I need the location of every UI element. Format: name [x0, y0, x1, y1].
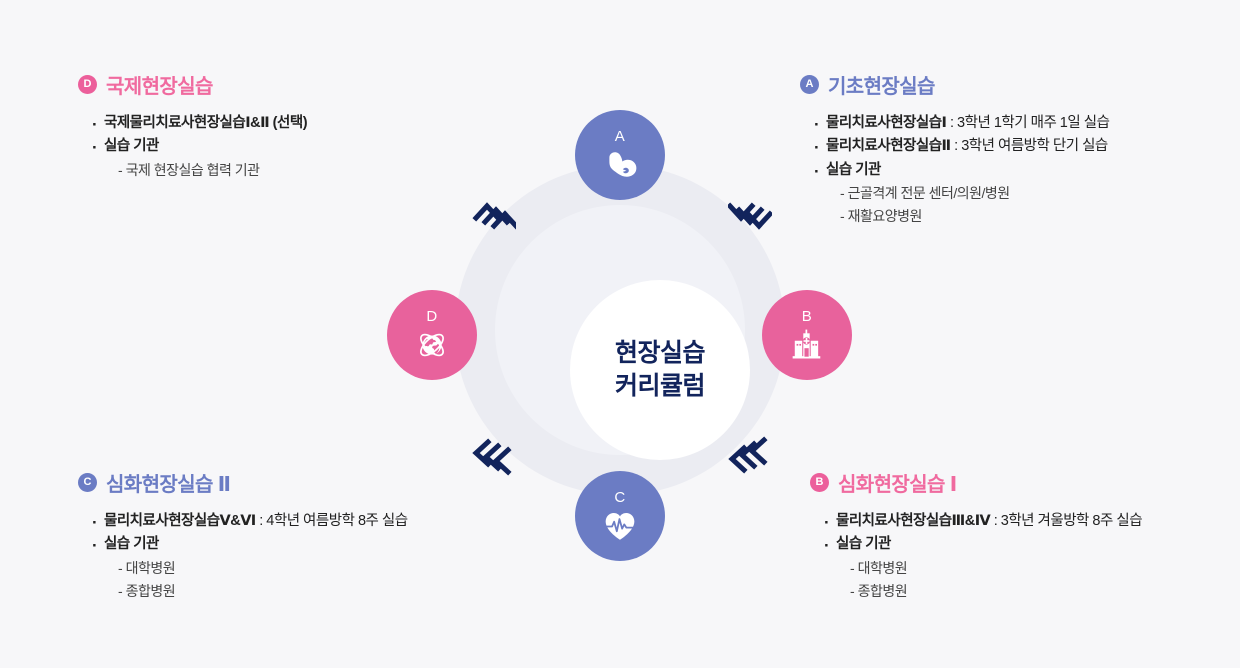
block-d-badge: D [78, 75, 97, 94]
list-item: 물리치료사현장실습Ⅰ : 3학년 1학기 매주 1일 실습 [826, 112, 1220, 135]
node-b[interactable]: B [762, 290, 852, 380]
item-detail: : 3학년 1학기 매주 1일 실습 [946, 115, 1109, 131]
center-title: 현장실습 커리큘럼 [615, 337, 705, 403]
block-d-title: 국제현장실습 [106, 70, 213, 99]
node-d-letter: D [426, 309, 437, 324]
block-a-sublist: 근골격계 전문 센터/의원/병원 재활요양병원 [826, 182, 1220, 227]
item-detail: : 4학년 여름방학 8주 실습 [256, 513, 408, 529]
sub-list-item: 종합병원 [850, 580, 1230, 603]
block-b-header: B 심화현장실습 Ⅰ [810, 468, 1230, 497]
sub-list-item: 종합병원 [118, 580, 518, 603]
block-c-list: 물리치료사현장실습Ⅴ&Ⅵ : 4학년 여름방학 8주 실습 실습 기관 대학병원… [78, 510, 518, 602]
item-label: 국제물리치료사현장실습Ⅰ&Ⅱ (선택) [104, 115, 307, 131]
block-c-badge: C [78, 473, 97, 492]
block-d: D 국제현장실습 국제물리치료사현장실습Ⅰ&Ⅱ (선택) 실습 기관 국제 현장… [78, 70, 498, 182]
block-c-header: C 심화현장실습 Ⅱ [78, 468, 518, 497]
block-a-list: 물리치료사현장실습Ⅰ : 3학년 1학기 매주 1일 실습 물리치료사현장실습Ⅱ… [800, 112, 1220, 228]
block-b-title: 심화현장실습 Ⅰ [838, 468, 957, 497]
item-label: 실습 기관 [104, 138, 159, 154]
item-label: 물리치료사현장실습Ⅲ&Ⅳ [836, 513, 990, 529]
node-c-letter: C [614, 490, 625, 505]
block-d-list: 국제물리치료사현장실습Ⅰ&Ⅱ (선택) 실습 기관 국제 현장실습 협력 기관 [78, 112, 498, 182]
block-b: B 심화현장실습 Ⅰ 물리치료사현장실습Ⅲ&Ⅳ : 3학년 겨울방학 8주 실습… [810, 468, 1230, 602]
list-item: 실습 기관 국제 현장실습 협력 기관 [104, 135, 498, 181]
chevron-upper-left-icon [472, 192, 516, 232]
block-b-list: 물리치료사현장실습Ⅲ&Ⅳ : 3학년 겨울방학 8주 실습 실습 기관 대학병원… [810, 510, 1230, 602]
block-a-header: A 기초현장실습 [800, 70, 1220, 99]
hospital-icon [790, 328, 824, 362]
item-label: 물리치료사현장실습Ⅰ [826, 115, 946, 131]
list-item: 물리치료사현장실습Ⅴ&Ⅵ : 4학년 여름방학 8주 실습 [104, 510, 518, 533]
item-detail: : 3학년 여름방학 단기 실습 [951, 138, 1108, 154]
block-b-badge: B [810, 473, 829, 492]
item-label: 실습 기관 [836, 536, 891, 552]
block-d-header: D 국제현장실습 [78, 70, 498, 99]
infographic-canvas: 현장실습 커리큘럼 A [0, 0, 1240, 668]
list-item: 실습 기관 대학병원 종합병원 [104, 533, 518, 602]
node-d[interactable]: D [387, 290, 477, 380]
node-c[interactable]: C [575, 471, 665, 561]
sub-list-item: 근골격계 전문 센터/의원/병원 [840, 182, 1220, 205]
middle-ring: 현장실습 커리큘럼 [495, 205, 745, 455]
block-a-title: 기초현장실습 [828, 70, 935, 99]
node-a-letter: A [615, 129, 626, 144]
block-c-title: 심화현장실습 Ⅱ [106, 468, 230, 497]
item-label: 물리치료사현장실습Ⅱ [826, 138, 951, 154]
sub-list-item: 대학병원 [850, 557, 1230, 580]
block-a: A 기초현장실습 물리치료사현장실습Ⅰ : 3학년 1학기 매주 1일 실습 물… [800, 70, 1220, 228]
item-label: 물리치료사현장실습Ⅴ&Ⅵ [104, 513, 256, 529]
inner-circle: 현장실습 커리큘럼 [570, 280, 750, 460]
list-item: 실습 기관 대학병원 종합병원 [836, 533, 1230, 602]
block-b-sublist: 대학병원 종합병원 [836, 557, 1230, 602]
block-d-sublist: 국제 현장실습 협력 기관 [104, 159, 498, 182]
muscle-flex-icon [603, 148, 637, 182]
block-a-badge: A [800, 75, 819, 94]
chevron-lower-right-icon [728, 436, 772, 476]
sub-list-item: 대학병원 [118, 557, 518, 580]
list-item: 물리치료사현장실습Ⅱ : 3학년 여름방학 단기 실습 [826, 135, 1220, 158]
node-b-letter: B [802, 309, 813, 324]
block-c: C 심화현장실습 Ⅱ 물리치료사현장실습Ⅴ&Ⅵ : 4학년 여름방학 8주 실습… [78, 468, 518, 602]
item-label: 실습 기관 [104, 536, 159, 552]
list-item: 물리치료사현장실습Ⅲ&Ⅳ : 3학년 겨울방학 8주 실습 [836, 510, 1230, 533]
item-label: 실습 기관 [826, 162, 881, 178]
chevron-upper-right-icon [728, 192, 772, 232]
node-a[interactable]: A [575, 110, 665, 200]
sub-list-item: 재활요양병원 [840, 205, 1220, 228]
block-c-sublist: 대학병원 종합병원 [104, 557, 518, 602]
sub-list-item: 국제 현장실습 협력 기관 [118, 159, 498, 182]
list-item: 실습 기관 근골격계 전문 센터/의원/병원 재활요양병원 [826, 159, 1220, 228]
heart-pulse-icon [603, 509, 637, 543]
globe-orbit-icon [415, 328, 449, 362]
list-item: 국제물리치료사현장실습Ⅰ&Ⅱ (선택) [104, 112, 498, 135]
item-detail: : 3학년 겨울방학 8주 실습 [990, 513, 1142, 529]
